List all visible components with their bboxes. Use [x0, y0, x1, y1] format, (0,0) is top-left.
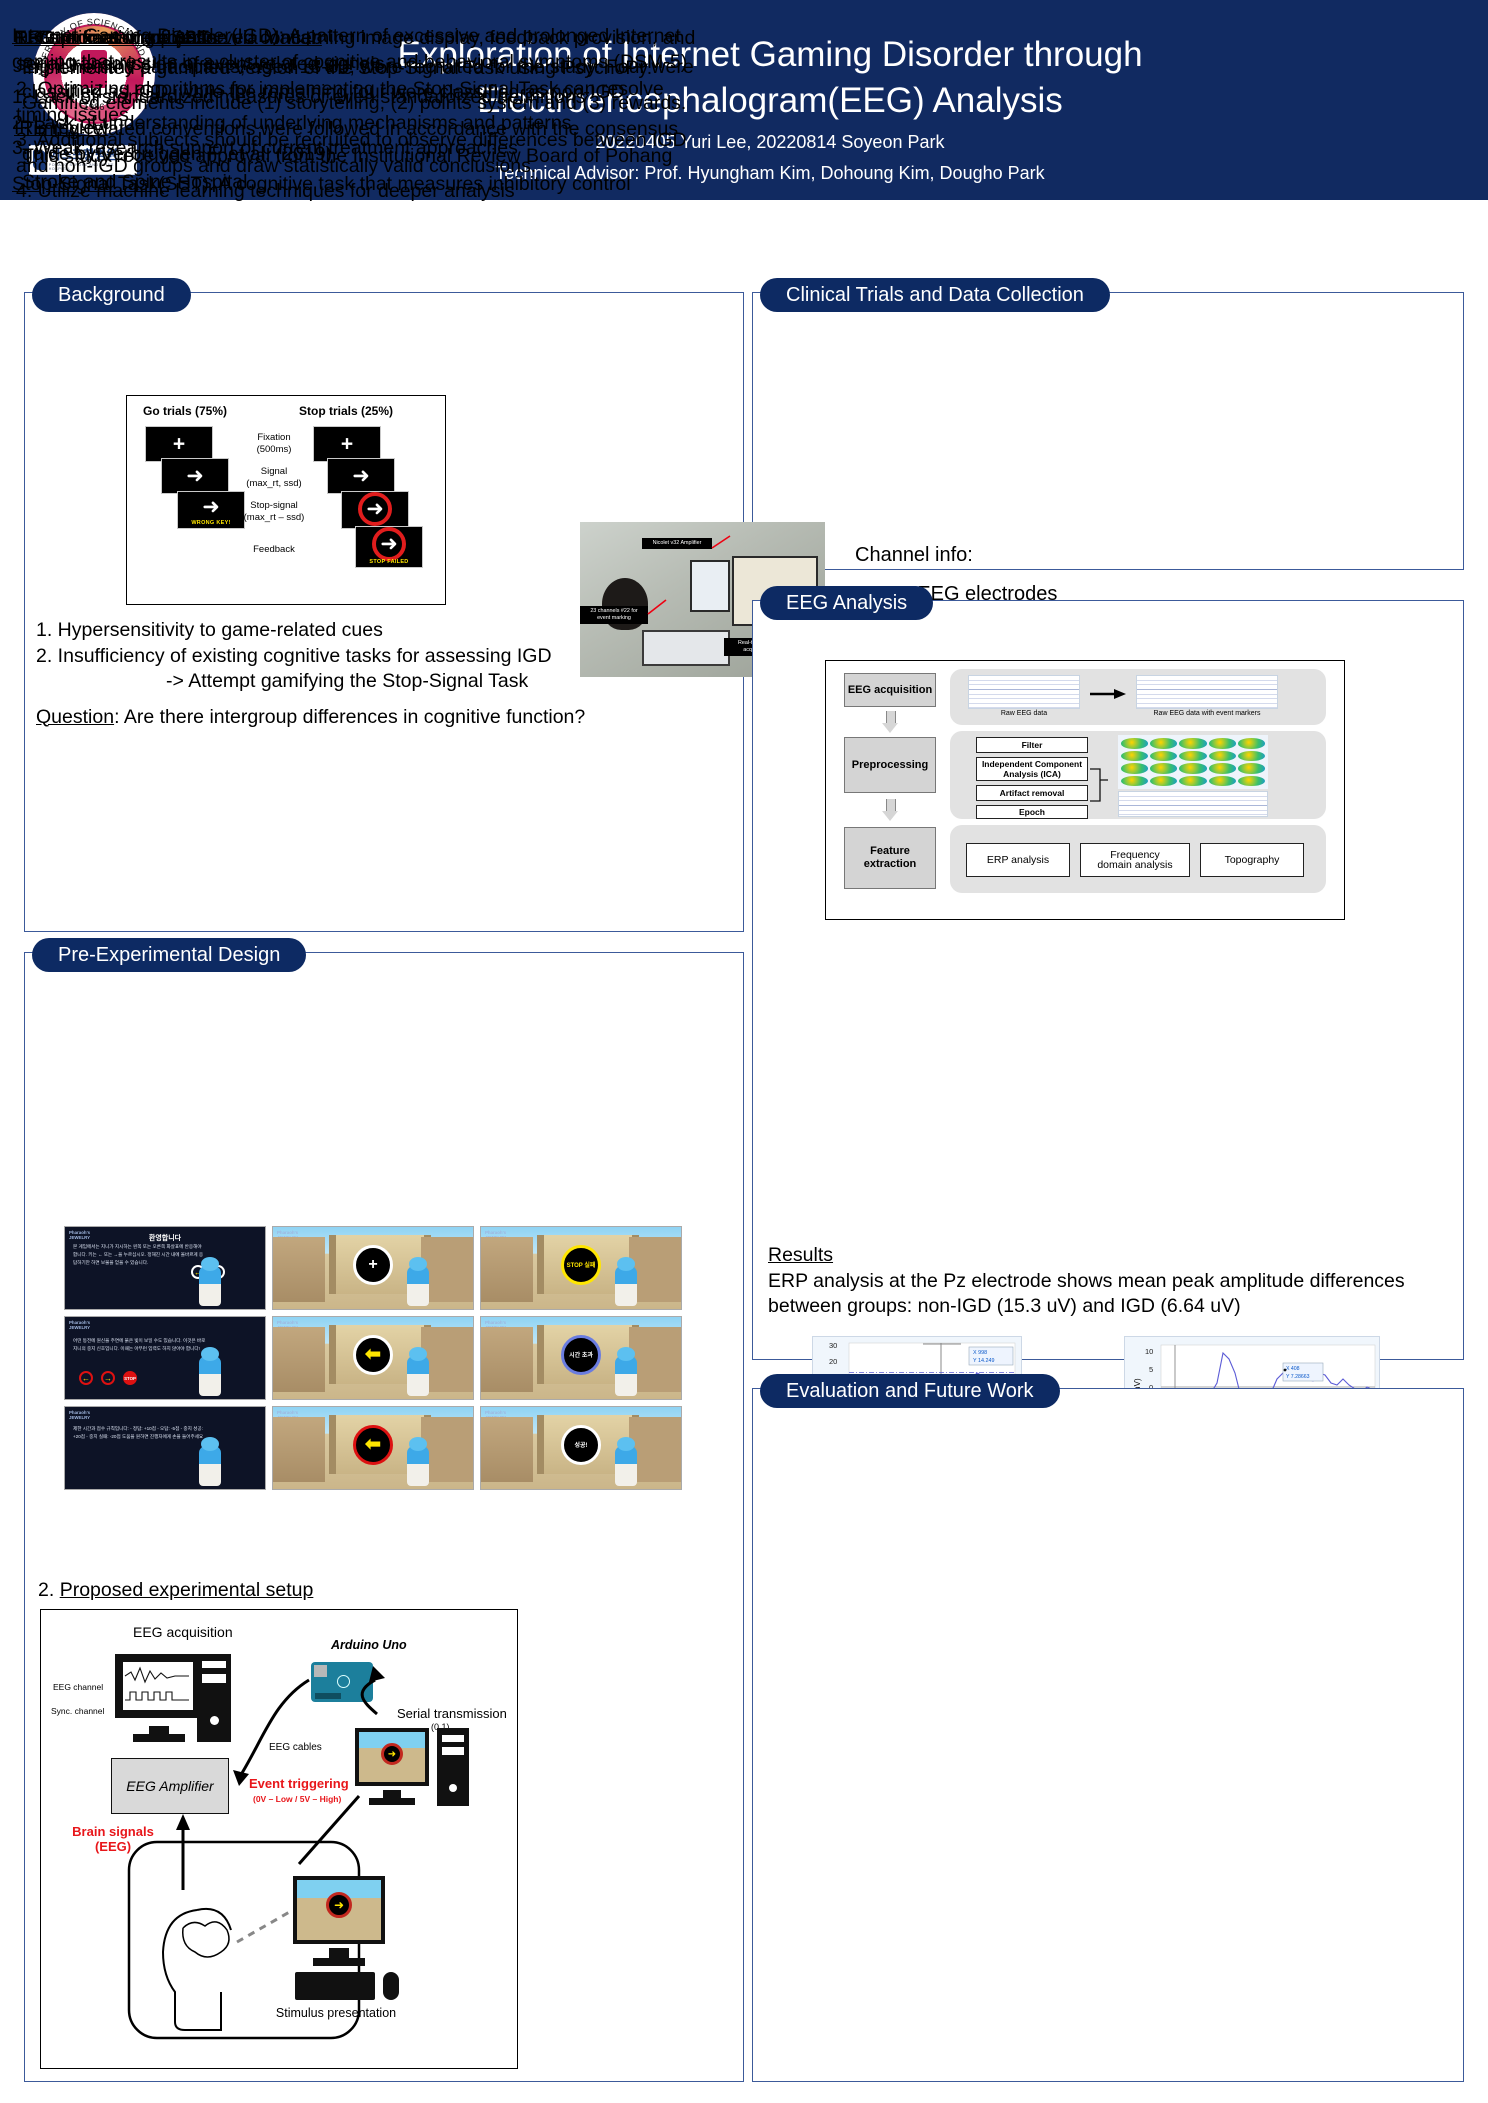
- pre-experimental-heading: Pre-Experimental Design: [32, 938, 306, 972]
- pre-item2-title: Proposed experimental setup: [60, 1579, 314, 1601]
- sst-stage-label-fixation: Fixation(500ms): [239, 432, 309, 456]
- cleaned-eeg-image: [1118, 791, 1268, 817]
- genie-character: [407, 1446, 429, 1486]
- eeg-results: Results ERP analysis at the Pz electrode…: [768, 1243, 1458, 1320]
- feature-step-frequency: Frequencydomain analysis: [1080, 843, 1190, 877]
- pipeline-stage-preprocessing: Preprocessing: [844, 737, 936, 793]
- evaluation-heading: Evaluation and Future Work: [760, 1374, 1060, 1408]
- svg-text:X 998: X 998: [973, 1350, 987, 1356]
- genie-character: [407, 1266, 429, 1306]
- timeout-badge: 시간 초과: [561, 1335, 601, 1375]
- screenshot-row: Pharaoh'sJEWELRY 어떤 동전에 원신을 주면에 붉은 빛이 보일…: [64, 1316, 684, 1400]
- experimental-setup-figure: EEG acquisition EEG channel Sync. channe…: [40, 1609, 518, 2069]
- eeg-pipeline-figure: EEG acquisition Preprocessing Featureext…: [825, 660, 1345, 920]
- right-arrow-icon: ➜: [366, 498, 384, 519]
- screenshot-intro-3: Pharaoh'sJEWELRY 제한 시간과 점수 규칙입니다: - 정답: …: [64, 1406, 266, 1490]
- genie-character: [199, 1446, 221, 1486]
- marked-eeg-image: [1136, 675, 1278, 709]
- game-brand-label: Pharaoh'sJEWELRY: [277, 1230, 298, 1240]
- pipeline-stage-feature: Featureextraction: [844, 827, 936, 889]
- game-brand-label: Pharaoh'sJEWELRY: [485, 1320, 506, 1330]
- eeg-results-title: Results: [768, 1243, 1458, 1269]
- right-arrow-icon: →: [101, 1371, 115, 1385]
- screenshot-timeout: Pharaoh'sJEWELRY 시간 초과: [480, 1316, 682, 1400]
- question-text: : Are there intergroup differences in co…: [114, 706, 585, 728]
- screenshot-stop-signal: Pharaoh'sJEWELRY ⬅: [272, 1406, 474, 1490]
- fixation-cross-icon: +: [173, 434, 185, 455]
- arrow-right-icon: [1088, 687, 1128, 701]
- sst-go-header: Go trials (75%): [143, 404, 227, 418]
- game-brand-label: Pharaoh'sJEWELRY: [277, 1410, 298, 1420]
- game-brand-label: Pharaoh'sJEWELRY: [69, 1320, 90, 1330]
- screen-body: 본 게임에서는 지니가 지시하는 왼쪽 또는 오른쪽 화살표에 반응해야 합니다…: [73, 1243, 207, 1267]
- genie-character: [615, 1356, 637, 1396]
- game-brand-label: Pharaoh'sJEWELRY: [69, 1410, 90, 1420]
- brace-icon: [1088, 757, 1112, 803]
- pre-item2-header: 2. Proposed experimental setup: [38, 1578, 313, 1604]
- genie-character: [407, 1356, 429, 1396]
- genie-character: [199, 1266, 221, 1306]
- screenshot-success: Pharaoh'sJEWELRY 성공!: [480, 1406, 682, 1490]
- sst-go-feedback-screen: ➜ WRONG KEY!: [177, 491, 245, 529]
- screenshot-left-signal: Pharaoh'sJEWELRY ⬅: [272, 1316, 474, 1400]
- screen-body: 제한 시간과 점수 규칙입니다: - 정답: +10점 - 오답: -5점 - …: [73, 1425, 207, 1441]
- pipeline-arrow-down: [882, 711, 898, 733]
- screenshot-row: Pharaoh'sJEWELRY 제한 시간과 점수 규칙입니다: - 정답: …: [64, 1406, 684, 1490]
- sst-stop-feedback-screen: ➜ STOP FAILED: [355, 526, 423, 568]
- feature-step-topography: Topography: [1200, 843, 1304, 877]
- genie-character: [615, 1446, 637, 1486]
- pipeline-group-preprocessing: Filter Independent ComponentAnalysis (IC…: [950, 731, 1326, 819]
- clinical-trials-panel: [752, 292, 1464, 570]
- preproc-step-epoch: Epoch: [976, 805, 1088, 819]
- keyboard-icon: [295, 1972, 375, 2000]
- eeg-results-p1: ERP analysis at the Pz electrode shows m…: [768, 1269, 1458, 1320]
- background-heading: Background: [32, 278, 191, 312]
- fixation-cross-icon: +: [353, 1245, 393, 1285]
- participant-monitor-icon: ➜: [293, 1876, 385, 1944]
- eeg-analysis-heading: EEG Analysis: [760, 586, 933, 620]
- sst-stop-signal-screen: ➜: [327, 458, 395, 494]
- sst-go-feedback-label: WRONG KEY!: [178, 520, 244, 526]
- evaluation-item-1: 1. Latencies were observed concerning im…: [16, 26, 700, 77]
- svg-text:Y 7.28663: Y 7.28663: [1286, 1374, 1310, 1380]
- raw-eeg-caption: Raw EEG data: [968, 710, 1080, 717]
- sst-figure: Go trials (75%) Stop trials (25%) + ➜ ➜ …: [126, 395, 446, 605]
- stimulus-presentation-label: Stimulus presentation: [271, 2006, 401, 2020]
- setup-arrows: [41, 1610, 519, 2070]
- right-arrow-icon: ➜: [352, 466, 370, 487]
- screen-title: 환영합니다: [65, 1233, 265, 1243]
- genie-character: [199, 1356, 221, 1396]
- right-arrow-icon: ➜: [186, 466, 204, 487]
- sst-stage-label-feedback: Feedback: [239, 544, 309, 556]
- preproc-step-ica: Independent ComponentAnalysis (ICA): [976, 757, 1088, 781]
- preproc-step-filter: Filter: [976, 737, 1088, 753]
- question-label: Question: [36, 706, 114, 728]
- pipeline-group-acquisition: Raw EEG data Raw EEG data with event mar…: [950, 669, 1326, 725]
- genie-character: [615, 1266, 637, 1306]
- pipeline-arrow-down: [882, 799, 898, 821]
- right-arrow-icon: ➜: [202, 497, 220, 518]
- left-arrow-icon: ⬅: [353, 1335, 393, 1375]
- fixation-cross-icon: +: [341, 434, 353, 455]
- sst-stop-header: Stop trials (25%): [299, 404, 393, 418]
- evaluation-panel: [752, 1388, 1464, 2082]
- feature-step-erp: ERP analysis: [966, 843, 1070, 877]
- screenshot-stop-failed: Pharaoh'sJEWELRY STOP 실패: [480, 1226, 682, 1310]
- raw-eeg-image: [968, 675, 1080, 709]
- screenshot-intro-1: Pharaoh'sJEWELRY 환영합니다 본 게임에서는 지니가 지시하는 …: [64, 1226, 266, 1310]
- preproc-step-artifact: Artifact removal: [976, 785, 1088, 801]
- mouse-icon: [383, 1972, 399, 2000]
- ica-components-image: [1118, 735, 1268, 789]
- svg-text:Y 14.249: Y 14.249: [973, 1358, 994, 1364]
- pipeline-stage-acquisition: EEG acquisition: [844, 673, 936, 707]
- left-arrow-icon: ←: [79, 1371, 93, 1385]
- background-question: Question: Are there intergroup differenc…: [36, 705, 736, 731]
- marked-eeg-caption: Raw EEG data with event markers: [1130, 710, 1284, 717]
- game-brand-label: Pharaoh'sJEWELRY: [485, 1230, 506, 1240]
- stop-signal-ring-icon: ⬅: [353, 1425, 393, 1465]
- gamified-screenshots-grid: Pharaoh'sJEWELRY 환영합니다 본 게임에서는 지니가 지시하는 …: [64, 1226, 684, 1496]
- evaluation-item-3: 3. Additional subjects should be recruit…: [16, 128, 700, 179]
- sst-go-fixation-screen: +: [145, 426, 213, 462]
- stop-sign-icon: STOP: [123, 1371, 137, 1385]
- evaluation-content: 1. Latencies were observed concerning im…: [16, 26, 700, 205]
- clinical-trials-heading: Clinical Trials and Data Collection: [760, 278, 1110, 312]
- evaluation-item-2: 2. Optimizing algorithms for implementin…: [16, 77, 700, 128]
- evaluation-item-4: 4. Utilize machine learning techniques f…: [16, 179, 700, 205]
- sst-go-signal-screen: ➜: [161, 458, 229, 494]
- sst-stop-fixation-screen: +: [313, 426, 381, 462]
- screenshot-intro-2: Pharaoh'sJEWELRY 어떤 동전에 원신을 주면에 붉은 빛이 보일…: [64, 1316, 266, 1400]
- stop-failed-badge: STOP 실패: [561, 1245, 601, 1285]
- screenshot-row: Pharaoh'sJEWELRY 환영합니다 본 게임에서는 지니가 지시하는 …: [64, 1226, 684, 1310]
- channel-info-title: Channel info:: [855, 540, 1057, 571]
- right-arrow-icon: ➜: [380, 533, 398, 554]
- pipeline-group-feature: ERP analysis Frequencydomain analysis To…: [950, 825, 1326, 893]
- svg-text:X 408: X 408: [1286, 1366, 1300, 1372]
- sst-stopsignal-screen: ➜: [341, 491, 409, 529]
- game-brand-label: Pharaoh'sJEWELRY: [485, 1410, 506, 1420]
- screen-body: 어떤 동전에 원신을 주면에 붉은 빛이 보일 수도 있습니다. 이것은 바로 …: [73, 1337, 207, 1353]
- success-badge: 성공!: [561, 1425, 601, 1465]
- sst-stop-feedback-label: STOP FAILED: [356, 559, 422, 565]
- pre-item2-num: 2.: [38, 1579, 54, 1601]
- screenshot-fixation: Pharaoh'sJEWELRY +: [272, 1226, 474, 1310]
- sst-stage-label-signal: Signal(max_rt, ssd): [239, 466, 309, 490]
- sst-stage-label-stopsignal: Stop-signal(max_rt – ssd): [237, 500, 311, 524]
- game-brand-label: Pharaoh'sJEWELRY: [277, 1320, 298, 1330]
